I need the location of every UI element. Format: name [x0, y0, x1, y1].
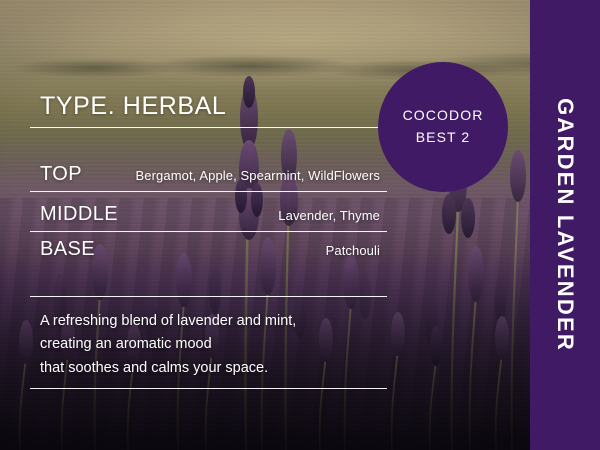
divider-below-description	[30, 388, 387, 389]
note-key-base: BASE	[40, 238, 95, 261]
note-value-top: Bergamot, Apple, Spearmint, WildFlowers	[136, 168, 381, 183]
divider-under-middle-note	[30, 231, 387, 232]
badge-rank: BEST 2	[416, 127, 471, 149]
description-line-1: A refreshing blend of lavender and mint,	[40, 310, 390, 333]
page-title: TYPE. HERBAL	[40, 92, 226, 121]
divider-under-top-note	[30, 191, 387, 192]
badge-brand-name: COCODOR	[403, 105, 484, 127]
product-banner: TYPE. HERBAL TOP Bergamot, Apple, Spearm…	[0, 0, 600, 450]
note-row: MIDDLE Lavender, Thyme	[40, 203, 380, 226]
description-line-2: creating an aromatic mood	[40, 333, 390, 356]
sidebar-product-name: GARDEN LAVENDER	[554, 98, 576, 352]
note-key-middle: MIDDLE	[40, 203, 118, 226]
note-key-top: TOP	[40, 163, 82, 186]
divider-under-title	[30, 127, 387, 128]
note-value-base: Patchouli	[326, 243, 380, 258]
note-value-middle: Lavender, Thyme	[278, 208, 380, 223]
note-row: BASE Patchouli	[40, 238, 380, 261]
description-line-3: that soothes and calms your space.	[40, 357, 390, 380]
divider-above-description	[30, 296, 387, 297]
sidebar-banner: GARDEN LAVENDER	[530, 0, 600, 450]
product-info-panel: TYPE. HERBAL TOP Bergamot, Apple, Spearm…	[0, 0, 400, 450]
product-description: A refreshing blend of lavender and mint,…	[40, 310, 390, 380]
brand-badge: COCODOR BEST 2	[378, 62, 508, 192]
note-row: TOP Bergamot, Apple, Spearmint, WildFlow…	[40, 163, 380, 186]
